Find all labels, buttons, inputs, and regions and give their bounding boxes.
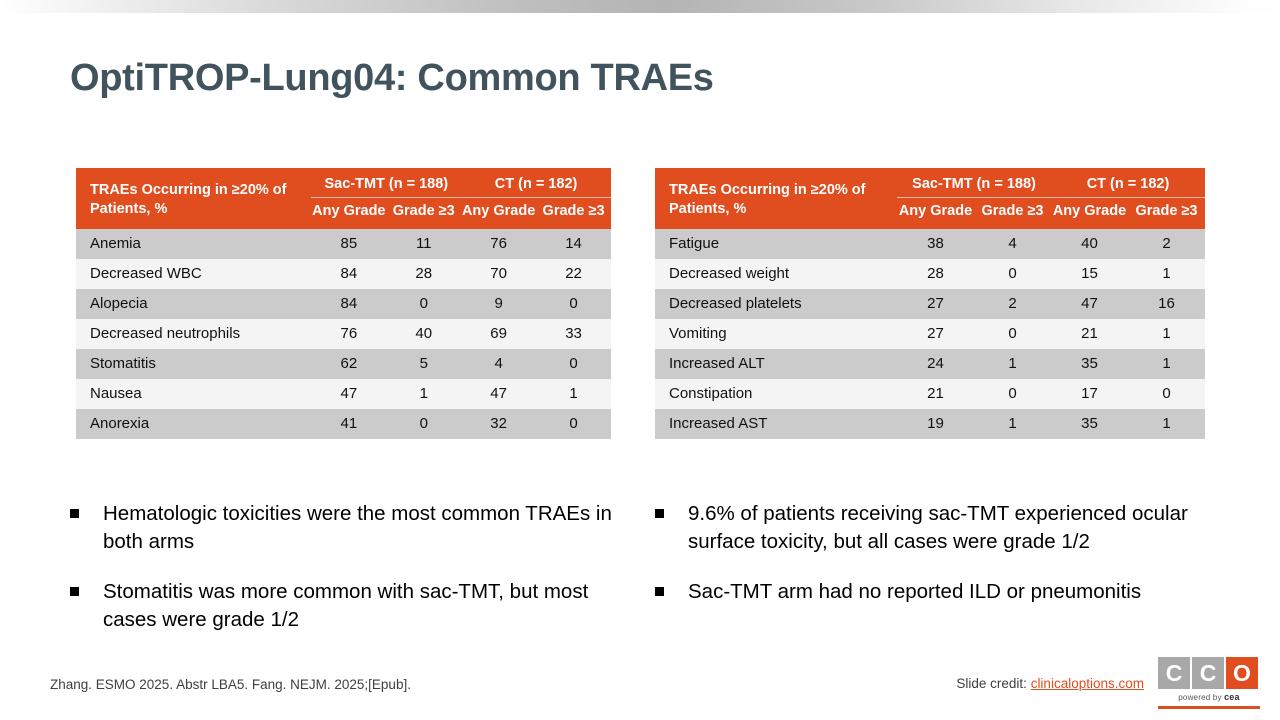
table-row: Decreased platelets2724716 [655,289,1205,319]
table-body-right: Fatigue384402Decreased weight280151Decre… [655,229,1205,439]
bullet-item: 9.6% of patients receiving sac-TMT exper… [655,500,1215,556]
table-row: Vomiting270211 [655,319,1205,349]
clinicaloptions-link[interactable]: clinicaloptions.com [1031,676,1144,691]
table-cell-value: 32 [461,409,536,439]
table-cell-value: 47 [1051,289,1128,319]
table-cell-event: Anemia [76,229,311,259]
subheader-ct-grade-3: Grade ≥3 [1128,198,1205,230]
cco-letter-c1: C [1158,657,1190,689]
table-cell-value: 16 [1128,289,1205,319]
table-cell-value: 0 [974,379,1051,409]
table-header: TRAEs Occurring in ≥20% of Patients, % S… [76,168,611,229]
cco-tagline: powered by cea [1158,692,1260,702]
table-cell-value: 11 [386,229,461,259]
cco-accent-bar [1158,706,1260,709]
table-cell-value: 1 [1128,319,1205,349]
traes-table-left: TRAEs Occurring in ≥20% of Patients, % S… [76,168,611,439]
table-cell-event: Decreased platelets [655,289,897,319]
table-cell-value: 47 [461,379,536,409]
table-cell-value: 28 [386,259,461,289]
table-header: TRAEs Occurring in ≥20% of Patients, % S… [655,168,1205,229]
table-cell-value: 27 [897,289,974,319]
bullet-text: Stomatitis was more common with sac-TMT,… [103,578,630,634]
table-cell-value: 4 [461,349,536,379]
table-cell-value: 0 [536,409,611,439]
table-cell-value: 76 [311,319,386,349]
group-header-sac-tmt: Sac-TMT (n = 188) [897,168,1051,198]
bullet-item: Sac-TMT arm had no reported ILD or pneum… [655,578,1215,606]
table-cell-value: 24 [897,349,974,379]
table-row: Nausea471471 [76,379,611,409]
table-cell-event: Alopecia [76,289,311,319]
table-cell-value: 9 [461,289,536,319]
group-header-row: TRAEs Occurring in ≥20% of Patients, % S… [76,168,611,198]
bullet-item: Stomatitis was more common with sac-TMT,… [70,578,630,634]
table-cell-value: 0 [386,289,461,319]
table-cell-value: 1 [1128,259,1205,289]
group-header-sac-tmt: Sac-TMT (n = 188) [311,168,461,198]
page-title: OptiTROP-Lung04: Common TRAEs [70,57,714,100]
table-cell-value: 33 [536,319,611,349]
table-cell-event: Decreased weight [655,259,897,289]
table-cell-value: 1 [1128,409,1205,439]
table-cell-value: 40 [386,319,461,349]
table-row: Constipation210170 [655,379,1205,409]
table-cell-value: 84 [311,289,386,319]
table-cell-value: 0 [974,319,1051,349]
table-row: Anorexia410320 [76,409,611,439]
group-header-ct: CT (n = 182) [461,168,611,198]
table-row: Stomatitis62540 [76,349,611,379]
table-cell-value: 15 [1051,259,1128,289]
citation: Zhang. ESMO 2025. Abstr LBA5. Fang. NEJM… [50,677,411,692]
table-cell-value: 1 [974,409,1051,439]
table-cell-value: 41 [311,409,386,439]
square-bullet-icon [655,509,664,518]
table-cell-value: 1 [386,379,461,409]
table-cell-value: 40 [1051,229,1128,259]
square-bullet-icon [70,587,79,596]
table-cell-value: 14 [536,229,611,259]
table-cell-value: 69 [461,319,536,349]
table-row: Decreased weight280151 [655,259,1205,289]
table-cell-value: 28 [897,259,974,289]
table-cell-value: 1 [1128,349,1205,379]
table-cell-value: 84 [311,259,386,289]
table-cell-event: Nausea [76,379,311,409]
group-header-row: TRAEs Occurring in ≥20% of Patients, % S… [655,168,1205,198]
square-bullet-icon [655,587,664,596]
top-gradient-band [0,0,1280,13]
subheader-ct-grade-3: Grade ≥3 [536,198,611,230]
table-cell-value: 22 [536,259,611,289]
bullet-list-right: 9.6% of patients receiving sac-TMT exper… [655,500,1215,628]
table-cell-value: 38 [897,229,974,259]
bullet-item: Hematologic toxicities were the most com… [70,500,630,556]
table-cell-event: Fatigue [655,229,897,259]
subheader-sac-any-grade: Any Grade [311,198,386,230]
table-cell-value: 0 [536,349,611,379]
table-cell-event: Stomatitis [76,349,311,379]
table-cell-value: 0 [1128,379,1205,409]
table-cell-value: 4 [974,229,1051,259]
table-cell-value: 76 [461,229,536,259]
bullet-text: Hematologic toxicities were the most com… [103,500,630,556]
subheader-sac-any-grade: Any Grade [897,198,974,230]
row-label-header: TRAEs Occurring in ≥20% of Patients, % [655,168,897,229]
table-cell-value: 85 [311,229,386,259]
slide-credit: Slide credit: clinicaloptions.com [956,676,1144,691]
table-cell-event: Constipation [655,379,897,409]
table-cell-value: 2 [974,289,1051,319]
subheader-ct-any-grade: Any Grade [1051,198,1128,230]
table-cell-value: 21 [897,379,974,409]
table-row: Alopecia84090 [76,289,611,319]
table-cell-value: 1 [974,349,1051,379]
table-cell-value: 35 [1051,349,1128,379]
subheader-sac-grade-3: Grade ≥3 [386,198,461,230]
table-row: Anemia85117614 [76,229,611,259]
table-cell-value: 0 [386,409,461,439]
table-cell-value: 5 [386,349,461,379]
table-row: Decreased WBC84287022 [76,259,611,289]
bullet-text: Sac-TMT arm had no reported ILD or pneum… [688,578,1141,606]
subheader-sac-grade-3: Grade ≥3 [974,198,1051,230]
table-cell-value: 19 [897,409,974,439]
cco-letter-c2: C [1192,657,1224,689]
subheader-ct-any-grade: Any Grade [461,198,536,230]
group-header-ct: CT (n = 182) [1051,168,1205,198]
cco-logo-squares: C C O [1158,657,1260,689]
table-row: Increased ALT241351 [655,349,1205,379]
table-body-left: Anemia85117614Decreased WBC84287022Alope… [76,229,611,439]
table-cell-value: 70 [461,259,536,289]
table-cell-value: 47 [311,379,386,409]
row-label-header: TRAEs Occurring in ≥20% of Patients, % [76,168,311,229]
table-cell-value: 17 [1051,379,1128,409]
bullet-list-left: Hematologic toxicities were the most com… [70,500,630,656]
cco-tagline-prefix: powered by [1178,693,1224,702]
square-bullet-icon [70,509,79,518]
table-cell-event: Anorexia [76,409,311,439]
traes-table-right-container: TRAEs Occurring in ≥20% of Patients, % S… [655,168,1205,439]
cco-tagline-brand: cea [1224,692,1240,702]
traes-table-left-container: TRAEs Occurring in ≥20% of Patients, % S… [76,168,611,439]
table-cell-event: Decreased WBC [76,259,311,289]
table-cell-value: 1 [536,379,611,409]
table-cell-value: 27 [897,319,974,349]
slide-credit-label: Slide credit: [956,676,1030,691]
cco-logo: C C O powered by cea [1158,657,1260,709]
table-cell-value: 0 [974,259,1051,289]
table-cell-event: Increased AST [655,409,897,439]
table-row: Increased AST191351 [655,409,1205,439]
table-cell-value: 21 [1051,319,1128,349]
traes-table-right: TRAEs Occurring in ≥20% of Patients, % S… [655,168,1205,439]
table-cell-value: 0 [536,289,611,319]
table-row: Decreased neutrophils76406933 [76,319,611,349]
table-row: Fatigue384402 [655,229,1205,259]
table-cell-event: Vomiting [655,319,897,349]
table-cell-event: Increased ALT [655,349,897,379]
bullet-text: 9.6% of patients receiving sac-TMT exper… [688,500,1215,556]
cco-letter-o: O [1226,657,1258,689]
table-cell-value: 35 [1051,409,1128,439]
table-cell-value: 62 [311,349,386,379]
table-cell-event: Decreased neutrophils [76,319,311,349]
table-cell-value: 2 [1128,229,1205,259]
